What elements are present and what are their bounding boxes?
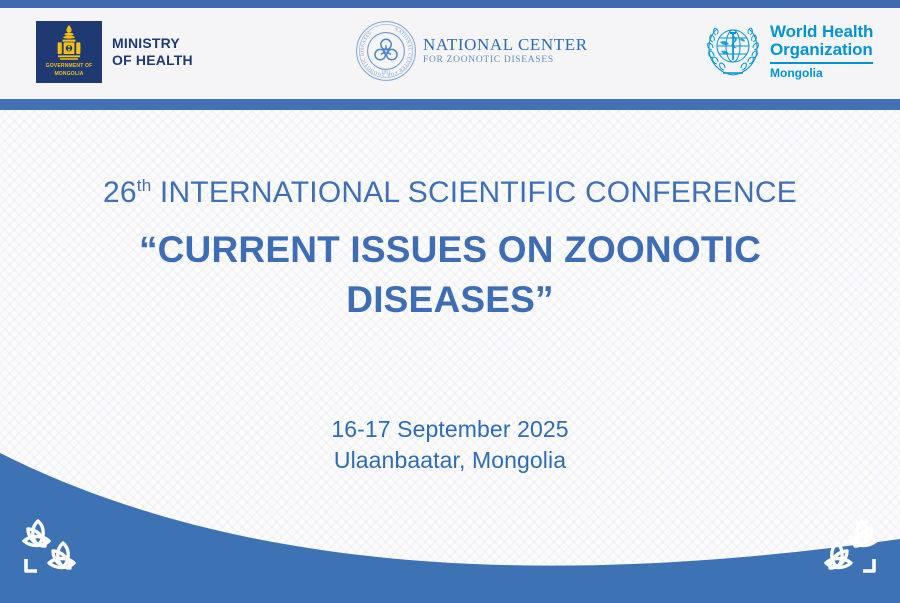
header-divider-bar: [0, 99, 900, 110]
logo-world-health-organization: World Health Organization Mongolia: [703, 18, 873, 80]
who-name-line1: World Health: [770, 23, 873, 41]
ministry-of-health-label: MINISTRY OF HEALTH: [112, 35, 193, 69]
logo-ministry-of-health: GOVERNMENT OF MONGOLIA MINISTRY OF HEALT…: [36, 21, 193, 83]
nczd-subtitle: FOR ZOONOTIC DISEASES: [423, 56, 588, 66]
decorative-wave-blue: [0, 443, 900, 603]
biohazard-seal-icon: NATIONAL CENTER FOR ZOONOTIC DISEASES 19…: [355, 20, 417, 82]
who-name-line2: Organization: [770, 41, 873, 59]
conference-theme-line2: DISEASES”: [0, 275, 900, 325]
ministry-label-line2: OF HEALTH: [112, 52, 193, 69]
logo-national-center-zoonotic-diseases: NATIONAL CENTER FOR ZOONOTIC DISEASES 19…: [355, 20, 588, 82]
who-emblem-icon: [703, 18, 763, 80]
seal-year: 1951: [382, 69, 391, 74]
title-block: 26th INTERNATIONAL SCIENTIFIC CONFERENCE…: [0, 175, 900, 325]
conference-heading-text: INTERNATIONAL SCIENTIFIC CONFERENCE: [151, 176, 797, 209]
crest-text-line2: MONGOLIA: [54, 71, 83, 78]
top-accent-bar: [0, 0, 900, 8]
event-date: 16-17 September 2025: [0, 414, 900, 445]
mongolian-knot-ornament-right-icon: [804, 515, 886, 585]
crest-text-line1: GOVERNMENT OF: [46, 63, 93, 70]
conference-number: 26: [103, 176, 137, 209]
conference-theme-line1: “CURRENT ISSUES ON ZOONOTIC: [0, 225, 900, 275]
who-country-label: Mongolia: [770, 66, 873, 80]
conference-ordinal-suffix: th: [137, 176, 152, 195]
conference-title-slide: GOVERNMENT OF MONGOLIA MINISTRY OF HEALT…: [0, 0, 900, 603]
conference-heading: 26th INTERNATIONAL SCIENTIFIC CONFERENCE: [0, 175, 900, 211]
ministry-label-line1: MINISTRY: [112, 35, 193, 52]
nczd-title: NATIONAL CENTER: [423, 36, 588, 53]
conference-theme: “CURRENT ISSUES ON ZOONOTIC DISEASES”: [0, 225, 900, 325]
mongolian-knot-ornament-left-icon: [14, 515, 96, 585]
who-underline: [770, 62, 873, 64]
soyombo-crest-icon: GOVERNMENT OF MONGOLIA: [36, 21, 102, 83]
